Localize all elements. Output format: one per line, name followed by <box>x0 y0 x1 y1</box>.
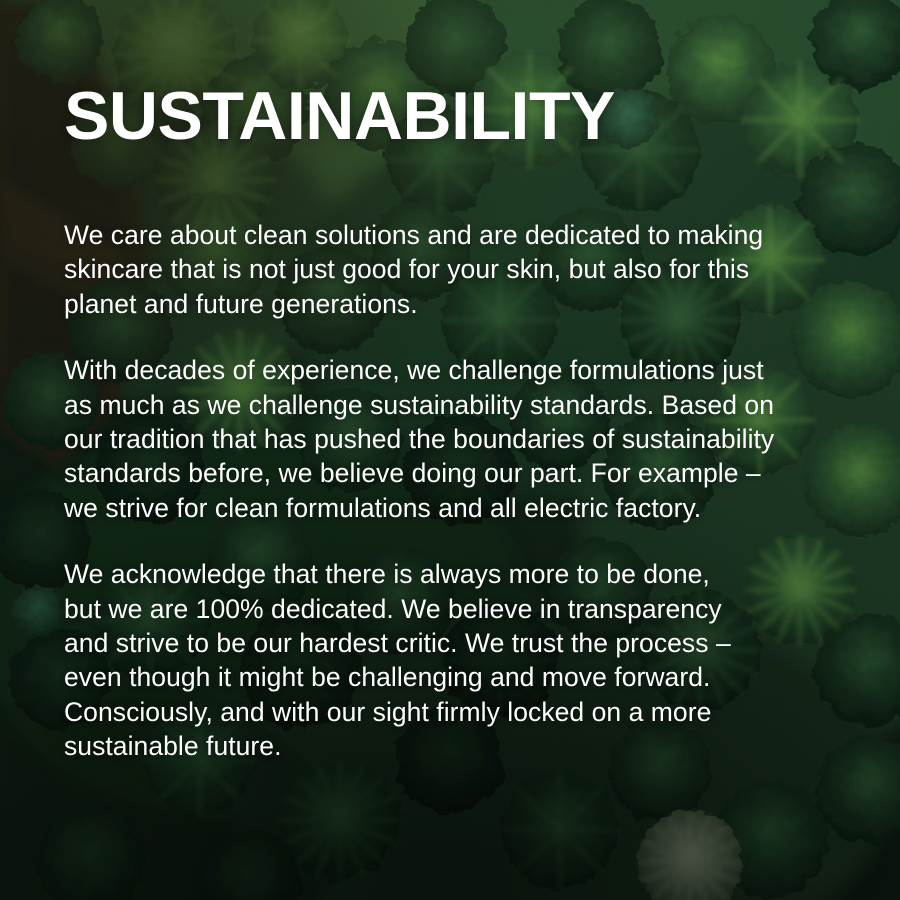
paragraph-line: skincare that is not just good for your … <box>64 252 864 286</box>
body-copy: We care about clean solutions and are de… <box>64 218 864 764</box>
paragraph-line: With decades of experience, we challenge… <box>64 353 864 387</box>
page-title: SUSTAINABILITY <box>64 82 615 150</box>
paragraph-line: planet and future generations. <box>64 287 864 321</box>
paragraph-line: We care about clean solutions and are de… <box>64 218 864 252</box>
paragraph-line: as much as we challenge sustainability s… <box>64 388 864 422</box>
sustainability-page: SUSTAINABILITY We care about clean solut… <box>0 0 900 900</box>
paragraph-line: We acknowledge that there is always more… <box>64 557 864 591</box>
paragraph-line: standards before, we believe doing our p… <box>64 456 864 490</box>
paragraph-acknowledge: We acknowledge that there is always more… <box>64 557 864 763</box>
paragraph-line: Consciously, and with our sight firmly l… <box>64 695 864 729</box>
paragraph-line: even though it might be challenging and … <box>64 660 864 694</box>
paragraph-line: our tradition that has pushed the bounda… <box>64 422 864 456</box>
paragraph-line: we strive for clean formulations and all… <box>64 491 864 525</box>
paragraph-line: sustainable future. <box>64 729 864 763</box>
paragraph-experience: With decades of experience, we challenge… <box>64 353 864 525</box>
paragraph-line: but we are 100% dedicated. We believe in… <box>64 592 864 626</box>
content-container: SUSTAINABILITY We care about clean solut… <box>64 0 864 900</box>
paragraph-clean-solutions: We care about clean solutions and are de… <box>64 218 864 321</box>
paragraph-line: and strive to be our hardest critic. We … <box>64 626 864 660</box>
